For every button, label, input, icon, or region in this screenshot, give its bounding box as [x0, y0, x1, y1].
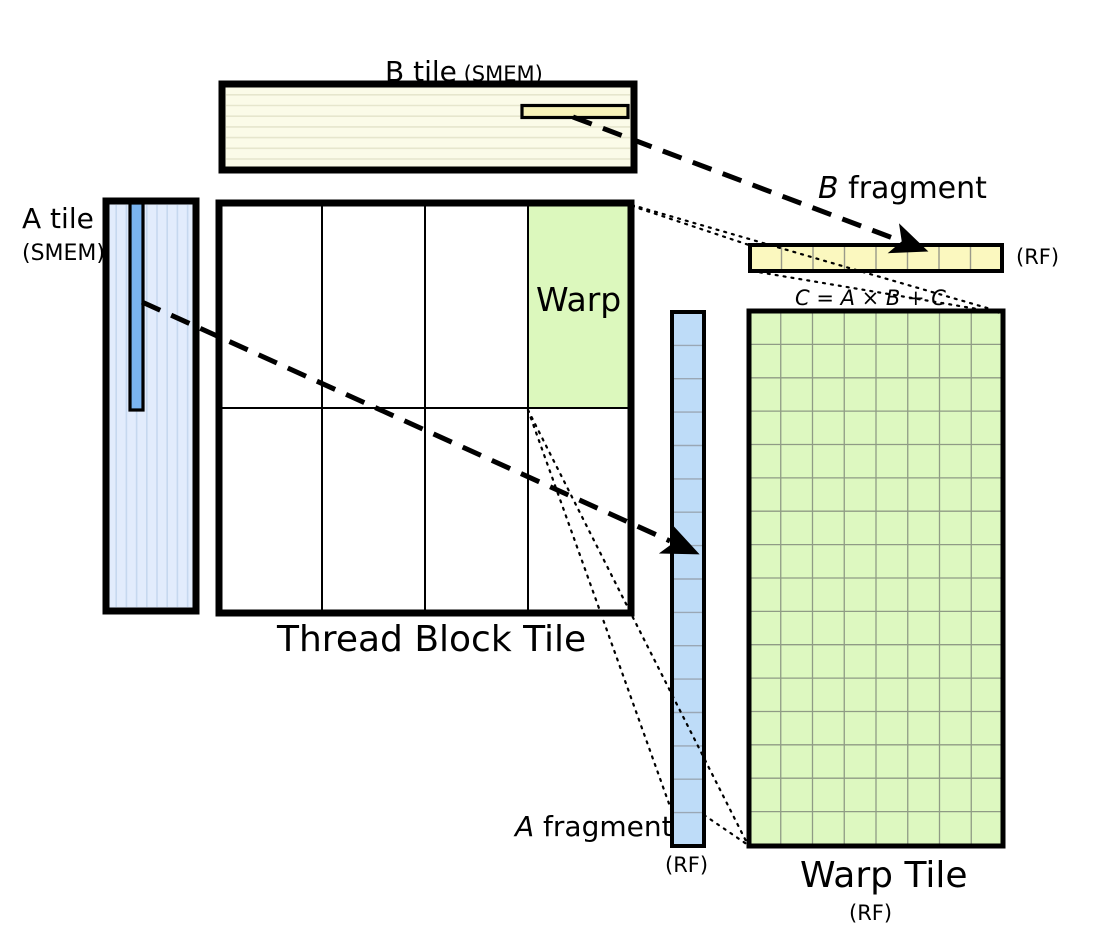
a-tile-shape — [106, 201, 196, 611]
b-tile-title: B tile — [385, 55, 457, 88]
b-fragment-label: B fragment — [818, 174, 987, 204]
b-tile-label: B tile (SMEM) — [385, 58, 543, 86]
b-tile-shape — [222, 84, 634, 170]
equation-text: C = A × B + C — [795, 286, 946, 310]
warp-tile-label: Warp Tile — [800, 858, 967, 894]
thread-block-tile-shape — [219, 203, 631, 613]
b-fragment-symbol: B — [818, 171, 839, 206]
b-fragment-rf-text: (RF) — [1016, 245, 1059, 269]
a-tile-label: A tile — [22, 205, 94, 233]
b-tile-highlight-strip — [522, 106, 628, 118]
warp-tile-rf-text: (RF) — [849, 901, 892, 925]
thread-block-tile-text: Thread Block Tile — [277, 619, 586, 660]
warp-tile-rf-label: (RF) — [849, 903, 892, 924]
warp-tile-shape — [749, 311, 1003, 846]
equation-label: C = A × B + C — [795, 288, 946, 309]
b-fragment-rf-label: (RF) — [1016, 247, 1059, 268]
b-tile-mem: (SMEM) — [464, 62, 543, 86]
a-fragment-shape — [672, 312, 704, 846]
warp-cell-label: Warp — [536, 283, 621, 316]
b-fragment-word: fragment — [839, 171, 987, 206]
warp-cell-text: Warp — [536, 280, 621, 319]
a-fragment-rf-text: (RF) — [665, 853, 708, 877]
thread-block-tile-label: Thread Block Tile — [277, 622, 586, 658]
a-tile-highlight-column — [130, 203, 143, 410]
a-tile-mem-label: (SMEM) — [22, 243, 105, 265]
a-fragment-word: fragment — [534, 810, 672, 843]
diagram-canvas: B tile (SMEM) A tile (SMEM) Warp Thread … — [0, 0, 1101, 937]
a-fragment-rf-label: (RF) — [665, 855, 708, 876]
a-tile-mem: (SMEM) — [22, 241, 105, 266]
b-fragment-shape — [750, 245, 1002, 271]
a-fragment-arrow — [142, 302, 670, 541]
warp-tile-text: Warp Tile — [800, 855, 967, 896]
diagram-graphics — [0, 0, 1101, 937]
a-tile-title: A tile — [22, 202, 94, 235]
a-fragment-symbol: A — [515, 810, 534, 843]
a-fragment-label: A fragment — [515, 813, 673, 841]
